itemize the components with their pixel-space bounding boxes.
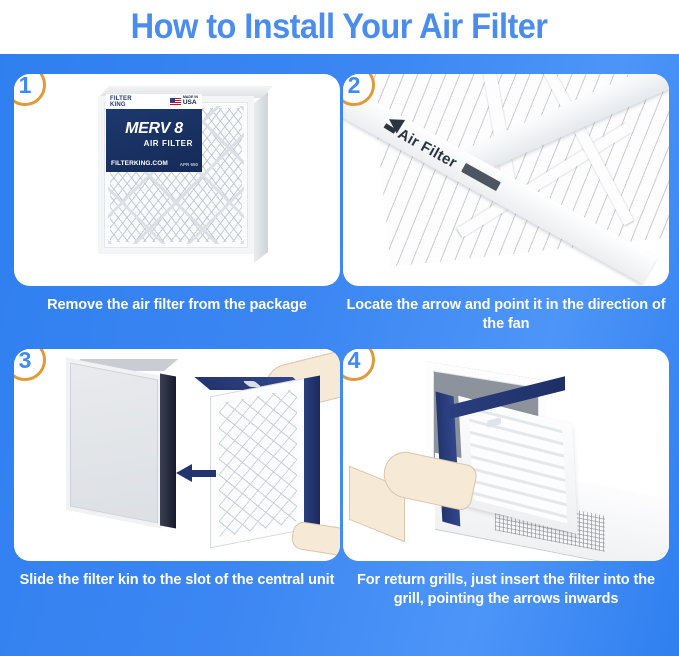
filter-blue-side-frame xyxy=(304,375,320,530)
step-2-artwork: Air Filter xyxy=(343,74,669,286)
step-card-4: 4 For return grills, just insert the fil… xyxy=(343,349,669,609)
arrow-shaft xyxy=(192,470,216,477)
label-header-row: FILTER KING MADE IN USA xyxy=(106,94,202,109)
step-1-artwork: FILTER KING MADE IN USA xyxy=(14,74,340,286)
filter-face-mesh xyxy=(210,378,306,549)
merv-rating-text: MERV 8 xyxy=(111,120,197,138)
step-card-2: Air Filter 2 Locate the arrow and point … xyxy=(343,74,669,334)
step-4-artwork xyxy=(343,349,669,561)
steps-grid: FILTER KING MADE IN USA xyxy=(0,58,679,656)
grill-louvers xyxy=(469,406,568,523)
filter-product-label: FILTER KING MADE IN USA xyxy=(106,94,202,172)
label-footer-row: FILTERKING.COM APR 650 xyxy=(111,160,198,167)
arrow-head xyxy=(176,464,192,482)
apr-rating-text: APR 650 xyxy=(180,162,198,167)
slide-direction-arrow-icon xyxy=(176,467,216,479)
step-card-3: 3 Slide the filter kin to the slot of th… xyxy=(14,349,340,590)
step-4-card: 4 xyxy=(343,349,669,561)
step-card-1: FILTER KING MADE IN USA xyxy=(14,74,340,315)
step-1-card: FILTER KING MADE IN USA xyxy=(14,74,340,286)
infographic-page: How to Install Your Air Filter xyxy=(0,0,679,656)
central-unit-side xyxy=(160,373,176,528)
usa-text: MADE IN USA xyxy=(183,96,198,106)
central-unit-slot xyxy=(66,358,162,529)
step-4-caption: For return grills, just insert the filte… xyxy=(343,571,669,609)
step-2-caption: Locate the arrow and point it in the dir… xyxy=(343,296,669,334)
step-3-caption: Slide the filter kin to the slot of the … xyxy=(14,571,340,590)
filter-diamond-mesh xyxy=(219,388,297,537)
website-text: FILTERKING.COM xyxy=(111,160,168,167)
filter-side-edge xyxy=(254,92,268,263)
step-3-artwork xyxy=(14,349,340,561)
header-band: How to Install Your Air Filter xyxy=(0,0,679,54)
air-filter-subtitle: AIR FILTER xyxy=(111,139,197,148)
page-title: How to Install Your Air Filter xyxy=(131,7,548,47)
made-in-usa-badge: MADE IN USA xyxy=(170,96,198,106)
step-1-caption: Remove the air filter from the package xyxy=(14,296,340,315)
filter-king-logo: FILTER KING xyxy=(110,96,132,108)
hand-lower xyxy=(290,520,340,557)
step-3-card: 3 xyxy=(14,349,340,561)
usa-flag-icon xyxy=(170,98,181,105)
step-2-card: Air Filter 2 xyxy=(343,74,669,286)
country-text: USA xyxy=(183,100,198,107)
brand-line-2: KING xyxy=(110,102,126,108)
air-filter-product-image: FILTER KING MADE IN USA xyxy=(90,86,268,258)
